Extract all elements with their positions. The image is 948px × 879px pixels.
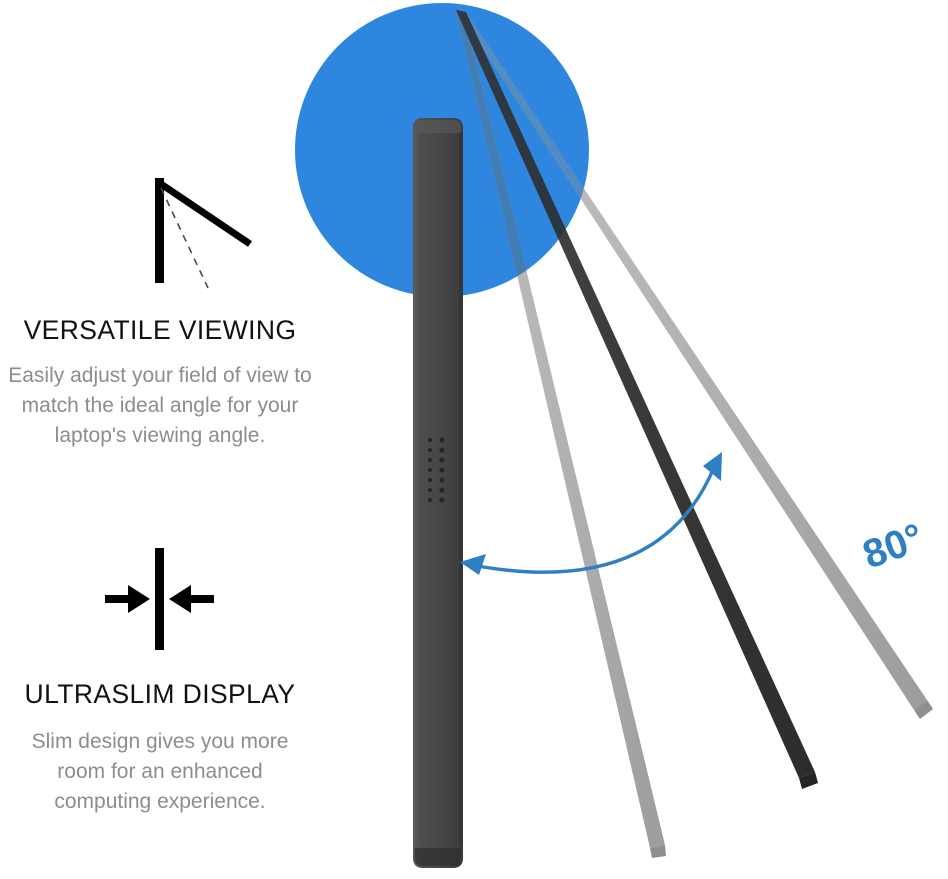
stand-leg-light-right <box>459 12 933 719</box>
product-infographic: VERSATILE VIEWING Easily adjust your fie… <box>0 0 948 879</box>
product-illustration: 80° <box>260 0 948 879</box>
monitor-side-profile <box>413 118 463 868</box>
stand-leg-dark-center <box>456 10 818 789</box>
